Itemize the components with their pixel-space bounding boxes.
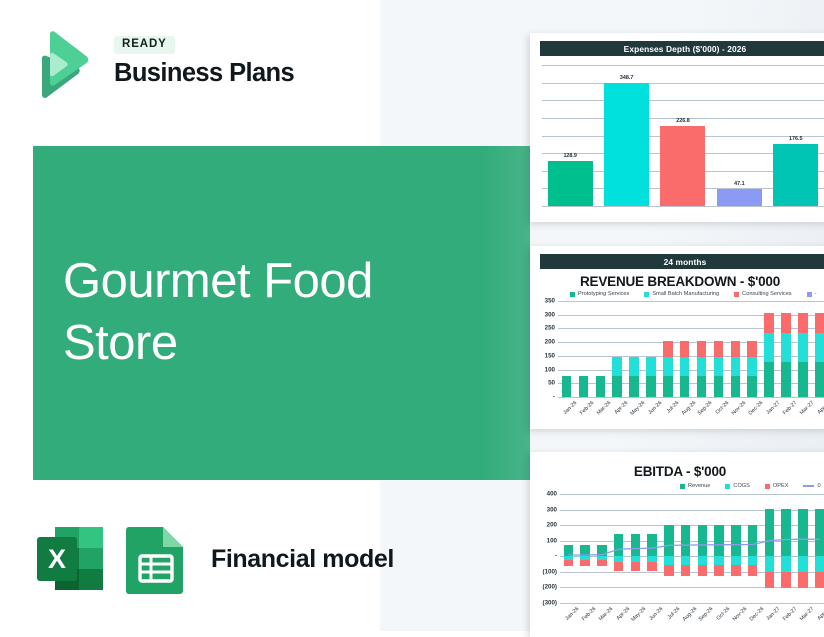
stack-segment[interactable]	[731, 357, 741, 376]
x-tick-label: Mar-26	[594, 606, 614, 626]
ebitda-plot-area: 400300200100-(100)(200)(300)	[560, 494, 824, 603]
expenses-bar[interactable]	[604, 83, 649, 206]
y-tick-label: 400	[531, 491, 557, 498]
chart-card-expenses[interactable]: Expenses Depth ($'000) - 2026 128.9348.7…	[530, 33, 824, 222]
x-tick-label: Oct-26	[711, 400, 731, 420]
x-tick-label: Oct-26	[712, 606, 732, 626]
legend-item: COGS	[725, 483, 749, 489]
brand-logo-block: READY Business Plans	[28, 28, 328, 102]
chart-card-revenue[interactable]: 24 months REVENUE BREAKDOWN - $'000 Prot…	[530, 246, 824, 429]
y-tick-label: (100)	[531, 568, 557, 575]
y-tick-label: (300)	[531, 600, 557, 607]
stack-segment[interactable]	[764, 333, 774, 362]
stack-segment[interactable]	[697, 357, 707, 376]
gridline	[558, 397, 824, 398]
legend-label: OPEX	[773, 483, 789, 489]
legend-label: Revenue	[688, 483, 710, 489]
legend-label: COGS	[733, 483, 749, 489]
chart-title-ebitda: EBITDA - $'000	[530, 464, 824, 479]
stack-segment[interactable]	[781, 362, 791, 397]
legend-swatch	[680, 484, 685, 489]
expenses-bar-label: 47.1	[734, 181, 745, 187]
chart-title-expenses: Expenses Depth ($'000) - 2026	[624, 44, 747, 54]
stack-segment[interactable]	[731, 376, 741, 397]
x-tick-label: Jan-27	[761, 400, 781, 420]
x-tick-label: Feb-26	[578, 606, 598, 626]
legend-revenue: Prototyping ServicesSmall Batch Manufact…	[570, 291, 816, 297]
trend-line	[560, 494, 824, 603]
legend-swatch	[765, 484, 770, 489]
legend-swatch	[807, 292, 812, 297]
stack-segment[interactable]	[663, 376, 673, 397]
chart-card-ebitda[interactable]: EBITDA - $'000 RevenueCOGSOPEX0 40030020…	[530, 452, 824, 637]
legend-label: Consulting Services	[742, 291, 791, 297]
hero-panel: Gourmet Food Store	[33, 146, 530, 480]
stack-segment[interactable]	[612, 376, 622, 397]
brand-text: READY Business Plans	[114, 34, 294, 86]
chart-title-revenue: REVENUE BREAKDOWN - $'000	[530, 274, 824, 289]
legend-swatch	[725, 484, 730, 489]
legend-ebitda: RevenueCOGSOPEX0	[680, 483, 821, 489]
legend-item: Consulting Services	[734, 291, 791, 297]
y-tick-label: 350	[529, 298, 555, 305]
legend-label: 0	[817, 483, 820, 489]
stack-segment[interactable]	[764, 313, 774, 333]
stack-segment[interactable]	[815, 333, 824, 362]
x-tick-label: Jun-26	[645, 606, 665, 626]
card-band-label-revenue: 24 months	[664, 257, 707, 267]
footer-label: Financial model	[211, 545, 394, 574]
x-tick-label: May-26	[626, 400, 646, 420]
x-tick-label: Jul-26	[660, 400, 680, 420]
microsoft-excel-icon: X	[33, 522, 107, 596]
stack-segment[interactable]	[680, 341, 690, 357]
y-tick-label: 200	[531, 522, 557, 529]
legend-swatch	[734, 292, 739, 297]
revenue-plot-area: 35030025020015010050-	[558, 301, 824, 397]
stack-segment[interactable]	[714, 341, 724, 357]
y-tick-label: -	[529, 394, 555, 401]
legend-label: Prototyping Services	[578, 291, 629, 297]
y-tick-label: 300	[531, 506, 557, 513]
stack-segment[interactable]	[798, 313, 808, 333]
stack-segment[interactable]	[815, 362, 824, 397]
google-sheets-icon	[125, 522, 187, 596]
expenses-bar[interactable]	[548, 161, 593, 206]
legend-item: Revenue	[680, 483, 710, 489]
legend-item: Prototyping Services	[570, 291, 629, 297]
stack-segment[interactable]	[680, 376, 690, 397]
x-tick-label: Apr-26	[610, 400, 630, 420]
x-tick-label: Jul-26	[661, 606, 681, 626]
x-tick-label: Feb-27	[778, 400, 798, 420]
stack-segment[interactable]	[612, 357, 622, 376]
page-title: Gourmet Food Store	[63, 250, 493, 374]
stack-segment[interactable]	[714, 357, 724, 376]
stack-segment[interactable]	[747, 376, 757, 397]
x-tick-label: Feb-26	[576, 400, 596, 420]
svg-text:X: X	[48, 544, 66, 574]
stack-segment[interactable]	[798, 333, 808, 362]
y-tick-label: 50	[529, 380, 555, 387]
x-tick-label: Mar-27	[795, 400, 815, 420]
stack-segment[interactable]	[731, 341, 741, 357]
y-tick-label: 300	[529, 311, 555, 318]
expenses-gridline	[542, 83, 824, 84]
expenses-gridline	[542, 65, 824, 66]
stack-segment[interactable]	[764, 362, 774, 397]
expenses-gridline	[542, 100, 824, 101]
y-tick-label: (200)	[531, 584, 557, 591]
stack-segment[interactable]	[815, 313, 824, 333]
stack-segment[interactable]	[629, 376, 639, 397]
expenses-bar-label: 226.8	[676, 118, 690, 124]
x-tick-label: Jan-26	[559, 400, 579, 420]
gridline	[558, 301, 824, 302]
expenses-plot-area: 128.9348.7226.847.1176.5	[542, 65, 824, 206]
y-tick-label: 200	[529, 339, 555, 346]
y-tick-label: 150	[529, 352, 555, 359]
x-tick-label: Mar-27	[795, 606, 815, 626]
legend-label: -	[815, 291, 817, 297]
footer-block: X Financial model	[33, 520, 394, 598]
card-band-expenses: Expenses Depth ($'000) - 2026	[540, 41, 824, 56]
expenses-bar-label: 128.9	[563, 153, 577, 159]
stack-segment[interactable]	[596, 376, 606, 397]
stack-segment[interactable]	[646, 376, 656, 397]
stack-segment[interactable]	[697, 341, 707, 357]
stack-segment[interactable]	[680, 357, 690, 376]
x-tick-label: Jun-26	[643, 400, 663, 420]
ready-badge: READY	[114, 36, 175, 54]
x-tick-label: Nov-26	[728, 400, 748, 420]
legend-item: Small Batch Manufacturing	[644, 291, 719, 297]
stack-segment[interactable]	[663, 357, 673, 376]
x-tick-label: Mar-26	[593, 400, 613, 420]
expenses-gridline	[542, 206, 824, 207]
stack-segment[interactable]	[781, 333, 791, 362]
gridline	[560, 603, 824, 604]
stack-segment[interactable]	[579, 376, 589, 397]
stack-segment[interactable]	[798, 362, 808, 397]
stack-segment[interactable]	[747, 341, 757, 357]
stack-segment[interactable]	[781, 313, 791, 333]
stack-segment[interactable]	[562, 376, 572, 397]
y-tick-label: -	[531, 553, 557, 560]
stack-segment[interactable]	[747, 357, 757, 376]
x-tick-label: Nov-26	[728, 606, 748, 626]
brand-name: Business Plans	[114, 61, 294, 87]
y-tick-label: 100	[531, 537, 557, 544]
x-tick-label: Feb-27	[779, 606, 799, 626]
x-tick-label: Dec-26	[745, 400, 765, 420]
stack-segment[interactable]	[629, 357, 639, 376]
expenses-bar-label: 176.5	[789, 136, 803, 142]
x-tick-label: Jan-26	[561, 606, 581, 626]
stack-segment[interactable]	[663, 341, 673, 357]
stack-segment[interactable]	[714, 376, 724, 397]
legend-swatch	[644, 292, 649, 297]
y-tick-label: 250	[529, 325, 555, 332]
y-tick-label: 100	[529, 366, 555, 373]
legend-item: 0	[803, 483, 820, 489]
stack-segment[interactable]	[697, 376, 707, 397]
stack-segment[interactable]	[646, 357, 656, 376]
play-double-triangle-logo-icon	[28, 30, 94, 98]
legend-item: -	[807, 291, 817, 297]
legend-label: Small Batch Manufacturing	[652, 291, 719, 297]
legend-swatch	[570, 292, 575, 297]
expenses-bar[interactable]	[717, 189, 762, 206]
legend-swatch	[803, 485, 814, 487]
card-band-revenue: 24 months	[540, 254, 824, 269]
expenses-bar[interactable]	[773, 144, 818, 206]
expenses-bar-label: 348.7	[620, 75, 634, 81]
legend-item: OPEX	[765, 483, 789, 489]
expenses-bar[interactable]	[660, 126, 705, 206]
